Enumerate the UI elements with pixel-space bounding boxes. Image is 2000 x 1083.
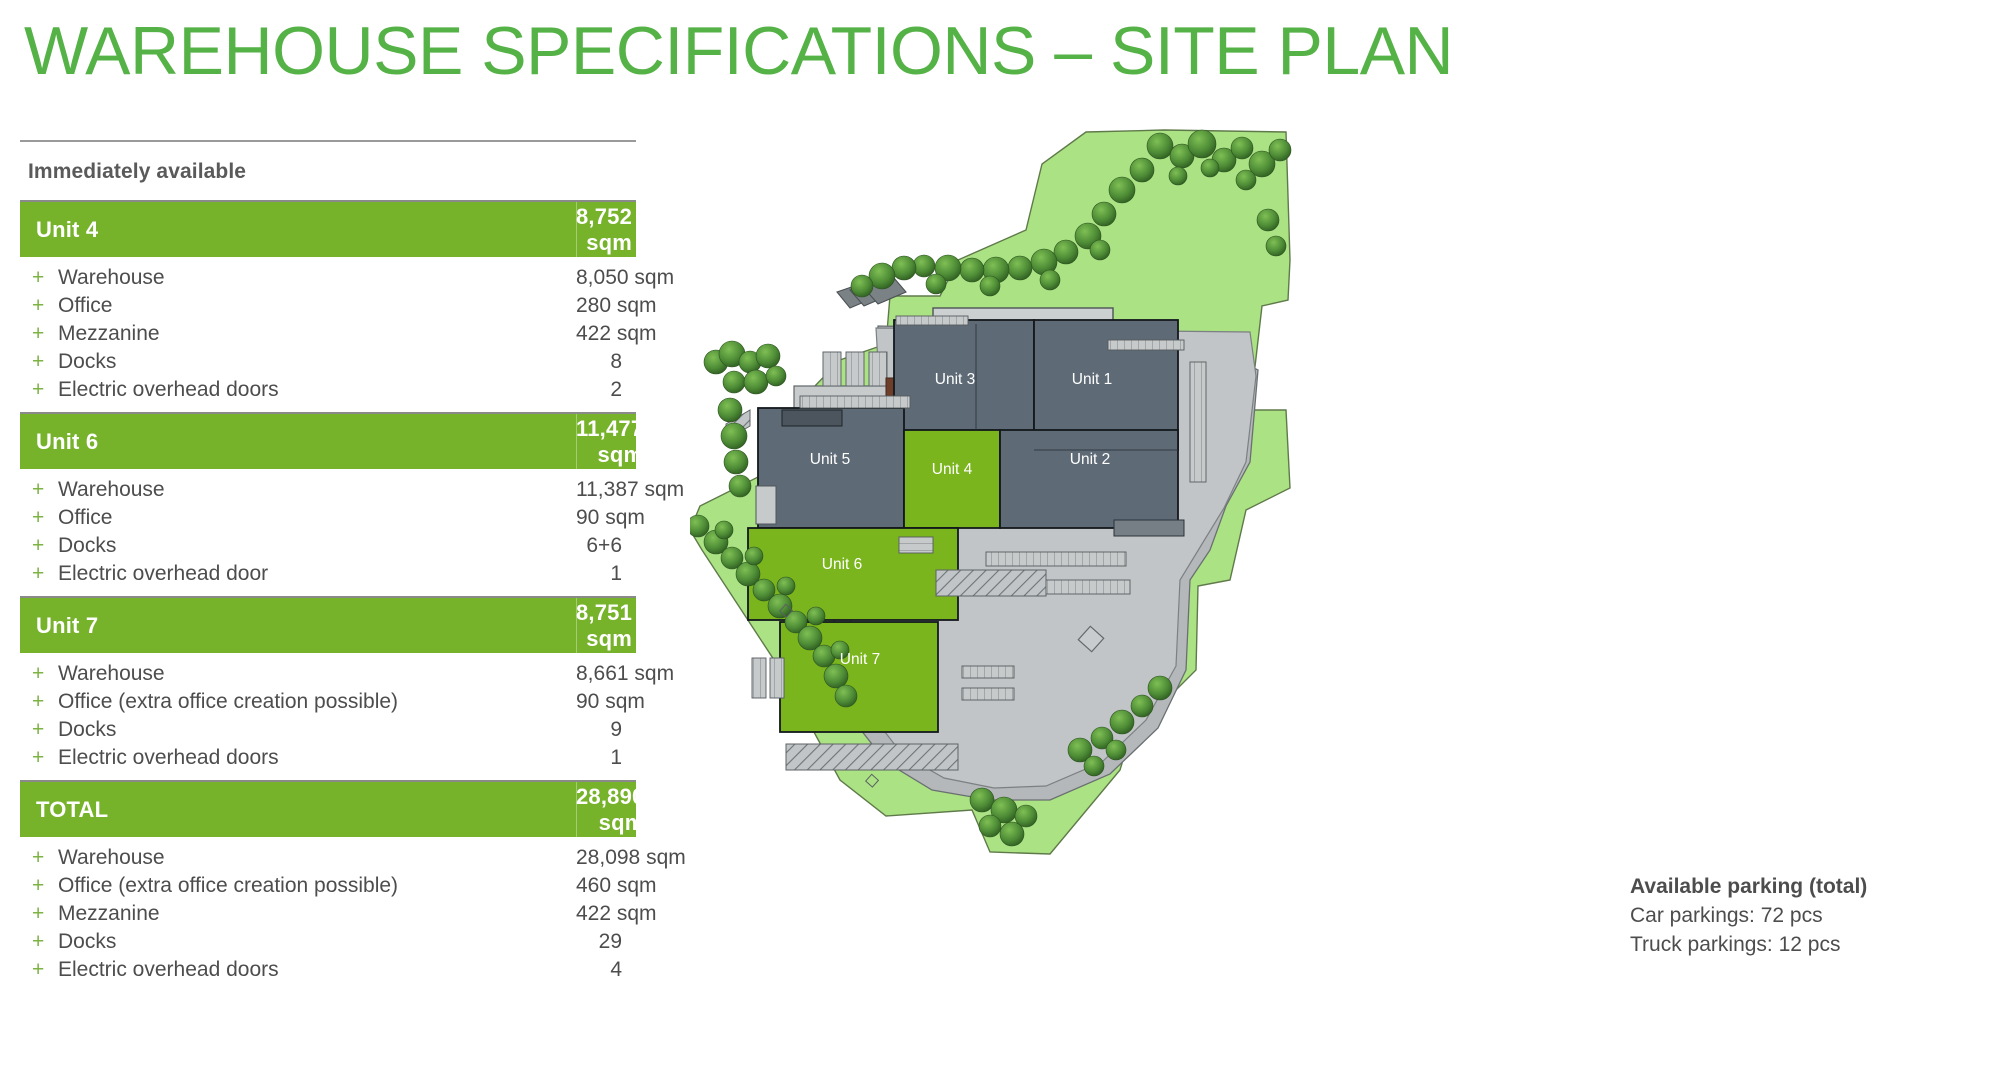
site-unit-label-unit-4: Unit 4 (932, 461, 973, 478)
spec-group-name: Unit 6 (20, 429, 576, 455)
spec-group: Unit 78,751 sqm+Warehouse8,661 sqm+Offic… (20, 596, 636, 780)
plus-icon: + (20, 872, 58, 900)
spec-row-value: 29 (576, 928, 636, 956)
spec-row-list: +Warehouse8,050 sqm+Office280 sqm+Mezzan… (20, 257, 636, 412)
spec-group-total: 8,752 sqm (576, 204, 646, 256)
spec-row: +Office (extra office creation possible)… (20, 872, 636, 900)
plus-icon: + (20, 660, 58, 688)
spec-row-value: 90 sqm (576, 504, 659, 532)
spec-row: +Mezzanine422 sqm (20, 320, 636, 348)
spec-row-label: Electric overhead doors (58, 744, 576, 772)
site-unit-label-unit-7: Unit 7 (840, 651, 881, 668)
site-unit-label-unit-2: Unit 2 (1070, 451, 1111, 468)
spec-row-label: Mezzanine (58, 900, 576, 928)
plus-icon: + (20, 928, 58, 956)
plus-icon: + (20, 956, 58, 984)
spec-row-label: Warehouse (58, 660, 576, 688)
panel-subtitle: Immediately available (28, 160, 636, 184)
plus-icon: + (20, 560, 58, 588)
plus-icon: + (20, 476, 58, 504)
plus-icon: + (20, 716, 58, 744)
site-unit-unit-4[interactable] (904, 430, 1000, 528)
spec-row-value: 11,387 sqm (576, 476, 698, 504)
spec-row: +Docks9 (20, 716, 636, 744)
specifications-panel: Immediately available Unit 48,752 sqm+Wa… (20, 140, 636, 992)
plus-icon: + (20, 348, 58, 376)
site-unit-label-unit-5: Unit 5 (810, 451, 851, 468)
plus-icon: + (20, 688, 58, 716)
plus-icon: + (20, 320, 58, 348)
site-unit-label-unit-6: Unit 6 (822, 556, 863, 573)
spec-row-label: Office (extra office creation possible) (58, 688, 576, 716)
spec-row: +Office280 sqm (20, 292, 636, 320)
spec-group-total: 8,751 sqm (576, 600, 646, 652)
spec-row-label: Electric overhead doors (58, 376, 576, 404)
parking-truck: Truck parkings: 12 pcs (1630, 930, 1960, 959)
slide-root: WAREHOUSE SPECIFICATIONS – SITE PLAN Imm… (0, 0, 2000, 1083)
spec-row: +Office90 sqm (20, 504, 636, 532)
spec-row-label: Docks (58, 348, 576, 376)
plus-icon: + (20, 532, 58, 560)
plus-icon: + (20, 292, 58, 320)
spec-row-value: 1 (576, 560, 636, 588)
spec-header-divider (576, 414, 577, 469)
spec-row-value: 90 sqm (576, 688, 659, 716)
spec-group-header: TOTAL28,890 sqm (20, 780, 636, 837)
spec-row-label: Office (extra office creation possible) (58, 872, 576, 900)
spec-row-value: 8,050 sqm (576, 264, 688, 292)
spec-group-header: Unit 48,752 sqm (20, 200, 636, 257)
plus-icon: + (20, 504, 58, 532)
plus-icon: + (20, 744, 58, 772)
parking-car: Car parkings: 72 pcs (1630, 901, 1960, 930)
spec-row: +Mezzanine422 sqm (20, 900, 636, 928)
spec-group-total: 11,477 sqm (576, 416, 657, 468)
spec-row-label: Warehouse (58, 476, 576, 504)
spec-row-label: Docks (58, 532, 576, 560)
plus-icon: + (20, 900, 58, 928)
spec-header-divider (576, 202, 577, 257)
spec-header-divider (576, 782, 577, 837)
site-unit-unit-2[interactable] (1000, 430, 1178, 528)
spec-row-value: 460 sqm (576, 872, 671, 900)
plus-icon: + (20, 264, 58, 292)
spec-row: +Docks6+6 (20, 532, 636, 560)
spec-header-divider (576, 598, 577, 653)
spec-row: +Warehouse11,387 sqm (20, 476, 636, 504)
spec-row-value: 8 (576, 348, 636, 376)
spec-row: +Electric overhead doors2 (20, 376, 636, 404)
spec-row-label: Docks (58, 928, 576, 956)
spec-row-value: 2 (576, 376, 636, 404)
spec-row-label: Warehouse (58, 264, 576, 292)
spec-group-header: Unit 611,477 sqm (20, 412, 636, 469)
spec-group: TOTAL28,890 sqm+Warehouse28,098 sqm+Offi… (20, 780, 636, 992)
page-title: WAREHOUSE SPECIFICATIONS – SITE PLAN (24, 8, 1453, 94)
spec-row-label: Electric overhead door (58, 560, 576, 588)
site-unit-label-unit-1: Unit 1 (1072, 371, 1113, 388)
spec-row-list: +Warehouse11,387 sqm+Office90 sqm+Docks6… (20, 469, 636, 596)
spec-row-value: 422 sqm (576, 320, 671, 348)
spec-row: +Electric overhead doors4 (20, 956, 636, 984)
spec-row-value: 6+6 (576, 532, 636, 560)
spec-row: +Docks29 (20, 928, 636, 956)
site-unit-label-unit-3: Unit 3 (935, 371, 976, 388)
spec-group-total: 28,890 sqm (576, 784, 659, 836)
spec-row: +Office (extra office creation possible)… (20, 688, 636, 716)
panel-divider (20, 140, 636, 142)
spec-group-name: TOTAL (20, 797, 576, 823)
spec-row-value: 28,098 sqm (576, 844, 700, 872)
plus-icon: + (20, 376, 58, 404)
spec-row-label: Docks (58, 716, 576, 744)
spec-row-label: Office (58, 504, 576, 532)
spec-row-list: +Warehouse8,661 sqm+Office (extra office… (20, 653, 636, 780)
spec-row-label: Warehouse (58, 844, 576, 872)
spec-row: +Warehouse28,098 sqm (20, 844, 636, 872)
parking-note: Available parking (total) Car parkings: … (1630, 872, 1960, 959)
spec-group-header: Unit 78,751 sqm (20, 596, 636, 653)
spec-row-label: Office (58, 292, 576, 320)
spec-row: +Electric overhead door1 (20, 560, 636, 588)
spec-row: +Electric overhead doors1 (20, 744, 636, 772)
plus-icon: + (20, 844, 58, 872)
spec-group: Unit 611,477 sqm+Warehouse11,387 sqm+Off… (20, 412, 636, 596)
spec-row-list: +Warehouse28,098 sqm+Office (extra offic… (20, 837, 636, 992)
spec-group-name: Unit 4 (20, 217, 576, 243)
spec-row-value: 280 sqm (576, 292, 671, 320)
parking-title: Available parking (total) (1630, 872, 1960, 901)
spec-row-value: 422 sqm (576, 900, 671, 928)
spec-row-value: 4 (576, 956, 636, 984)
spec-row-value: 9 (576, 716, 636, 744)
spec-row: +Docks8 (20, 348, 636, 376)
spec-group-name: Unit 7 (20, 613, 576, 639)
spec-row: +Warehouse8,050 sqm (20, 264, 636, 292)
spec-row-label: Mezzanine (58, 320, 576, 348)
spec-row-label: Electric overhead doors (58, 956, 576, 984)
site-plan-map: Unit 3Unit 1Unit 5Unit 4Unit 2Unit 6Unit… (690, 110, 1330, 920)
spec-group: Unit 48,752 sqm+Warehouse8,050 sqm+Offic… (20, 200, 636, 412)
spec-row-value: 8,661 sqm (576, 660, 688, 688)
spec-group-list: Unit 48,752 sqm+Warehouse8,050 sqm+Offic… (20, 200, 636, 992)
spec-row: +Warehouse8,661 sqm (20, 660, 636, 688)
spec-row-value: 1 (576, 744, 636, 772)
